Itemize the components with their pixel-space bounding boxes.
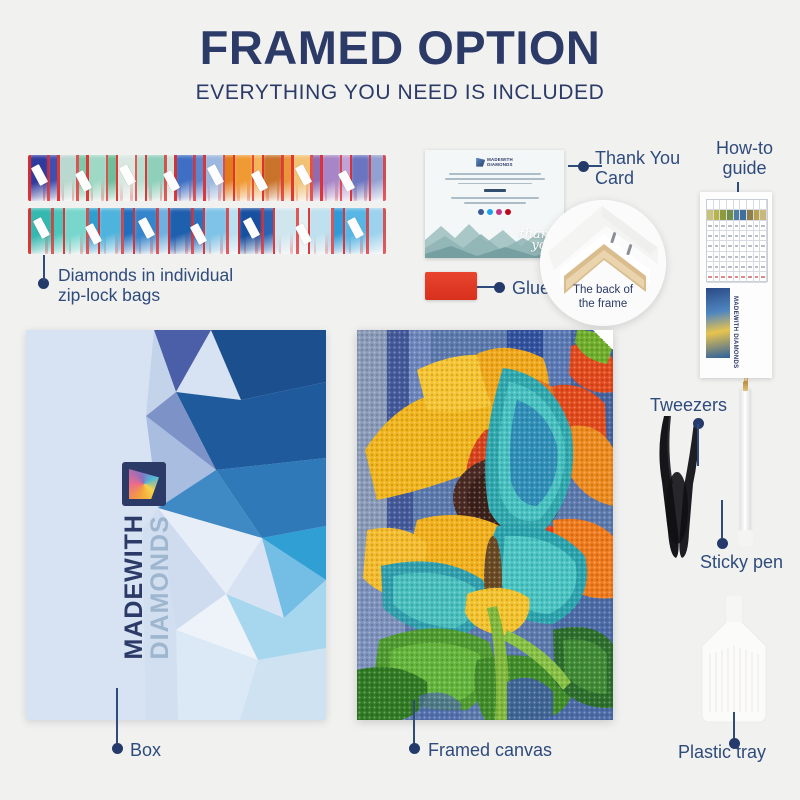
guide-cell-mark [728,245,732,247]
guide-chart-cell [754,262,761,271]
guide-chart-cell [714,252,721,261]
guide-chart-cell [747,262,754,271]
guide-cell-mark [761,245,765,247]
callout-label-canvas: Framed canvas [428,740,552,760]
guide-chart-row [707,221,767,231]
guide-chart-cell [714,221,721,230]
guide-chart-cell [707,252,714,261]
guide-chart-cell [727,231,734,240]
guide-chart-row [707,200,767,210]
callout-label-howto: How-to guide [697,138,792,178]
card-text-line [458,183,532,185]
diamond-bag [273,208,299,254]
guide-chart-cell [727,252,734,261]
guide-chart-cell [727,241,734,250]
guide-cell-mark [708,276,712,278]
guide-cell-mark [755,266,759,268]
guide-cell-mark [741,235,745,237]
guide-chart-cell [754,221,761,230]
guide-chart-cell [747,221,754,230]
card-brand-text: MADEWITH DIAMONDS [487,157,513,167]
callout-line-box [116,688,118,746]
card-discount-code [484,189,506,192]
callout-label-tray: Plastic tray [678,742,766,762]
guide-chart-cell [747,200,754,209]
guide-chart-cell [740,231,747,240]
bubble-label: The back of the frame [540,283,666,311]
diamond-bag [63,208,89,254]
guide-chart-row [707,272,767,282]
guide-chart-cell [754,200,761,209]
guide-chart-cell [720,221,727,230]
guide-chart-cell [734,241,741,250]
guide-cell-mark [741,276,745,278]
diamond-gem-icon [122,462,166,506]
guide-cell-mark [755,235,759,237]
guide-cell-mark [735,235,739,237]
social-icon[interactable] [505,209,512,216]
guide-cell-mark [721,276,725,278]
guide-chart-cell [760,200,767,209]
guide-cell-mark [715,256,719,258]
guide-chart-cell [734,262,741,271]
guide-chart-cell [707,210,714,219]
callout-label-thankyou-line2: Card [595,168,685,188]
diamond-bag [145,155,167,201]
guide-chart-row [707,262,767,272]
guide-cell-mark [708,256,712,258]
box-brand-secondary: DIAMONDS [148,514,174,659]
plastic-tray [680,596,790,724]
guide-chart-cell [720,252,727,261]
guide-chart-cell [754,252,761,261]
guide-chart-cell [720,200,727,209]
page-subtitle: EVERYTHING YOU NEED IS INCLUDED [0,82,800,103]
sticky-pen [740,388,751,536]
box-brand-logo: MADEWITH DIAMONDS [122,462,173,659]
guide-chart-row [707,252,767,262]
guide-cell-mark [755,256,759,258]
diamond-bag [308,208,334,254]
guide-chart-cell [734,210,741,219]
guide-cell-mark [715,225,719,227]
guide-cell-mark [741,245,745,247]
diamond-dot-overlay [357,330,613,720]
guide-cell-mark [741,256,745,258]
callout-line-tweezers [697,424,699,466]
guide-color-chart [706,199,768,282]
diamond-bag [174,155,196,201]
guide-chart-cell [720,272,727,281]
guide-chart-cell [734,272,741,281]
guide-chart-cell [720,210,727,219]
bubble-label-line1: The back of [540,283,666,297]
guide-chart-cell [714,272,721,281]
canvas-corner-highlight [593,330,613,350]
diamond-bag [57,155,79,201]
guide-cell-mark [728,256,732,258]
frame-back-bubble: The back of the frame [540,200,666,326]
guide-chart-cell [707,262,714,271]
guide-cell-mark [741,225,745,227]
page-title: FRAMED OPTION [0,24,800,71]
guide-cell-mark [748,256,752,258]
guide-chart-row [707,231,767,241]
callout-dot-canvas [409,743,420,754]
guide-chart-cell [747,231,754,240]
guide-chart-cell [707,231,714,240]
callout-label-howto-line1: How-to [697,138,792,158]
guide-cell-mark [728,235,732,237]
guide-cell-mark [761,266,765,268]
guide-chart-cell [734,231,741,240]
guide-chart-cell [720,241,727,250]
card-text-line [451,197,539,199]
callout-dot-glue [494,282,505,293]
guide-chart-cell [747,252,754,261]
social-icon[interactable] [478,209,485,216]
guide-chart-cell [740,210,747,219]
guide-chart-cell [760,210,767,219]
guide-chart-cell [760,241,767,250]
guide-cell-mark [728,266,732,268]
callout-dot-thankyou [578,161,589,172]
guide-cell-mark [735,256,739,258]
guide-cell-mark [761,235,765,237]
guide-cell-mark [708,245,712,247]
diamond-bag [262,155,284,201]
guide-chart-cell [747,210,754,219]
card-message-text [434,173,555,204]
callout-label-diamonds-line1: Diamonds in individual [58,266,288,286]
guide-chart-cell [714,210,721,219]
guide-chart-cell [760,272,767,281]
diamond-bag [350,155,372,201]
product-box: MADEWITH DIAMONDS [26,330,326,720]
diamond-bag [86,155,108,201]
callout-label-diamonds: Diamonds in individual zip-lock bags [58,266,288,305]
guide-cell-mark [748,276,752,278]
guide-cell-mark [755,225,759,227]
diamond-bag [98,208,124,254]
guide-chart-cell [720,231,727,240]
guide-chart-cell [707,221,714,230]
box-brand-primary: MADEWITH [122,514,148,659]
guide-chart-cell [747,241,754,250]
guide-chart-cell [747,272,754,281]
guide-chart-cell [707,241,714,250]
guide-chart-cell [714,262,721,271]
guide-chart-row [707,210,767,220]
guide-cell-mark [761,225,765,227]
guide-chart-cell [727,210,734,219]
guide-chart-cell [760,262,767,271]
guide-cell-mark [721,256,725,258]
glue-item [425,272,477,300]
box-polygon-pattern [26,330,326,720]
guide-cell-mark [761,256,765,258]
bubble-label-line2: the frame [540,297,666,311]
infographic-root: FRAMED OPTION EVERYTHING YOU NEED IS INC… [0,0,800,800]
card-social-icons [425,209,564,216]
callout-label-thankyou: Thank You Card [595,148,685,188]
guide-cell-mark [748,266,752,268]
guide-chart-cell [727,262,734,271]
guide-cell-mark [721,266,725,268]
guide-chart-cell [740,262,747,271]
card-text-line [445,178,545,180]
framed-canvas [357,330,613,720]
diamond-bags-row-bottom [28,208,386,254]
guide-chart-cell [714,231,721,240]
gem-facets [129,469,159,499]
guide-chart-cell [740,200,747,209]
guide-cell-mark [715,245,719,247]
social-icon[interactable] [496,209,503,216]
guide-chart-cell [727,272,734,281]
guide-cell-mark [721,225,725,227]
guide-cell-mark [708,225,712,227]
card-brand-line2: DIAMONDS [487,162,513,167]
callout-line-diamonds [43,255,45,281]
guide-chart-row [707,241,767,251]
sticky-pen-tip [743,381,748,391]
guide-chart-cell [754,210,761,219]
guide-chart-cell [740,221,747,230]
guide-cell-mark [708,235,712,237]
guide-chart-cell [707,200,714,209]
diamond-gem-icon [476,158,485,167]
guide-chart-cell [754,272,761,281]
guide-cell-mark [728,276,732,278]
tray-illustration [680,596,790,724]
callout-label-pen: Sticky pen [700,552,783,572]
guide-chart-cell [734,252,741,261]
callout-dot-box [112,743,123,754]
guide-chart-cell [760,221,767,230]
guide-cell-mark [761,276,765,278]
howto-guide: MADEWITH DIAMONDS [700,192,772,378]
guide-chart-cell [760,252,767,261]
callout-line-canvas [413,700,415,746]
guide-chart-cell [720,262,727,271]
guide-chart-cell [714,200,721,209]
guide-chart-cell [714,241,721,250]
guide-chart-cell [740,252,747,261]
callout-label-tweezers: Tweezers [650,395,727,415]
guide-cell-mark [748,225,752,227]
guide-chart-cell [740,241,747,250]
guide-chart-cell [760,231,767,240]
callout-label-diamonds-line2: zip-lock bags [58,286,288,306]
guide-cell-mark [721,235,725,237]
diamond-bag [168,208,194,254]
diamond-bag [233,155,255,201]
diamond-bags-row-top [28,155,386,201]
guide-chart-cell [754,241,761,250]
guide-cell-mark [735,266,739,268]
guide-cell-mark [748,245,752,247]
callout-label-howto-line2: guide [697,158,792,178]
guide-cell-mark [721,245,725,247]
card-brand-logo: MADEWITH DIAMONDS [425,157,564,167]
guide-brand-text: MADEWITH DIAMONDS [732,296,738,368]
guide-cell-mark [708,266,712,268]
guide-cell-mark [735,245,739,247]
callout-label-box: Box [130,740,161,760]
callout-dot-pen [717,538,728,549]
diamond-bag [203,208,229,254]
guide-chart-cell [734,221,741,230]
guide-cell-mark [755,245,759,247]
social-icon[interactable] [487,209,494,216]
callout-label-thankyou-line1: Thank You [595,148,685,168]
guide-cell-mark [715,235,719,237]
guide-chart-cell [727,221,734,230]
guide-preview-image [706,288,730,358]
guide-chart-cell [707,272,714,281]
guide-cell-mark [735,276,739,278]
guide-cell-mark [741,266,745,268]
callout-line-pen [721,500,723,542]
guide-cell-mark [715,266,719,268]
guide-cell-mark [728,225,732,227]
guide-cell-mark [755,276,759,278]
card-text-line [464,202,526,204]
guide-chart-cell [727,200,734,209]
guide-chart-cell [734,200,741,209]
guide-chart-cell [754,231,761,240]
guide-chart-cell [740,272,747,281]
guide-cell-mark [748,235,752,237]
sticky-pen-base [738,530,753,546]
guide-cell-mark [715,276,719,278]
guide-cell-mark [735,225,739,227]
card-text-line [449,173,541,175]
